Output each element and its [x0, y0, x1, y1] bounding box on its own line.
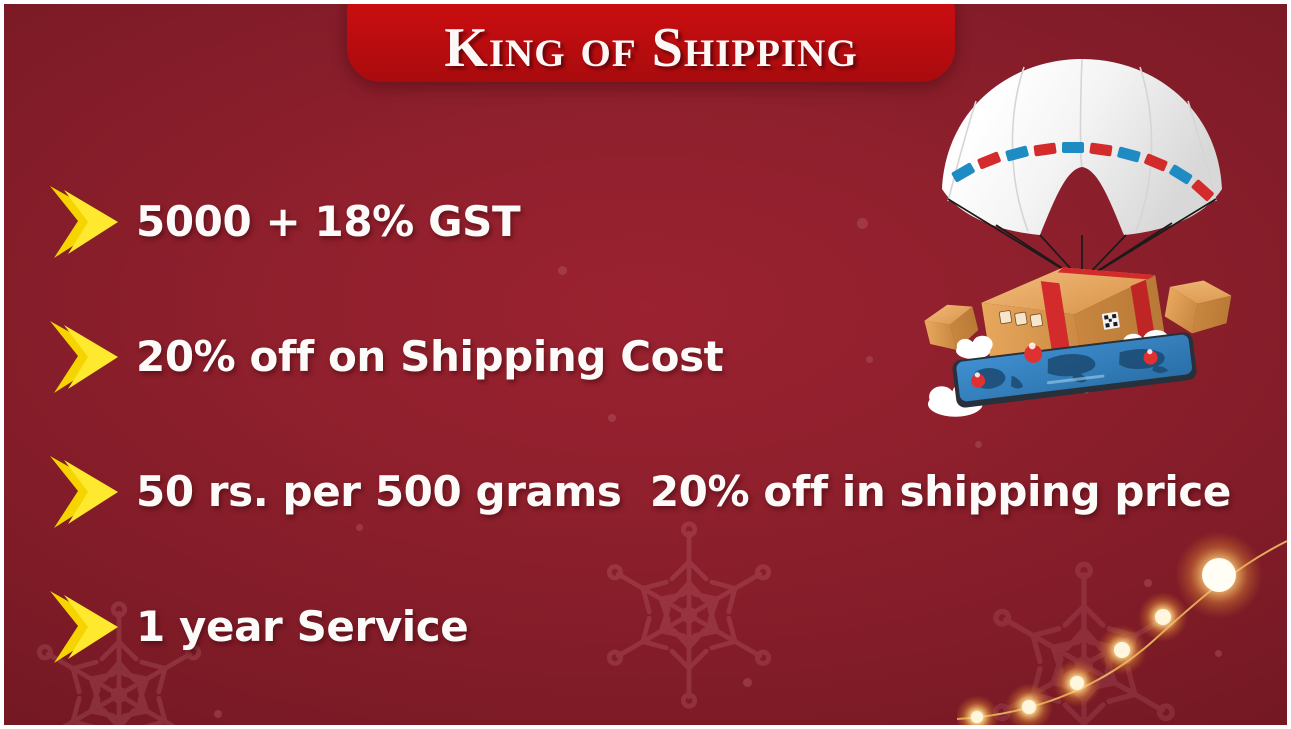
list-item: 1 year Service	[48, 559, 1228, 694]
chevron-right-icon	[48, 589, 120, 665]
list-item: 50 rs. per 500 grams 20% off in shipping…	[48, 424, 1228, 559]
offer-label: 20% off on Shipping Cost	[136, 336, 723, 378]
offer-list: 5000 + 18% GST 20% off on Shipping Cost …	[48, 154, 1228, 694]
title-badge: King of Shipping	[347, 0, 955, 82]
offer-label: 5000 + 18% GST	[136, 201, 520, 243]
page-title: King of Shipping	[444, 20, 857, 76]
decor-dot	[1066, 134, 1073, 141]
offer-label: 1 year Service	[136, 606, 468, 648]
chevron-right-icon	[48, 319, 120, 395]
chevron-right-icon	[48, 184, 120, 260]
offer-label: 50 rs. per 500 grams 20% off in shipping…	[136, 471, 1231, 513]
promo-banner: King of Shipping	[0, 0, 1291, 729]
list-item: 5000 + 18% GST	[48, 154, 1228, 289]
decor-dot	[214, 710, 222, 718]
chevron-right-icon	[48, 454, 120, 530]
list-item: 20% off on Shipping Cost	[48, 289, 1228, 424]
